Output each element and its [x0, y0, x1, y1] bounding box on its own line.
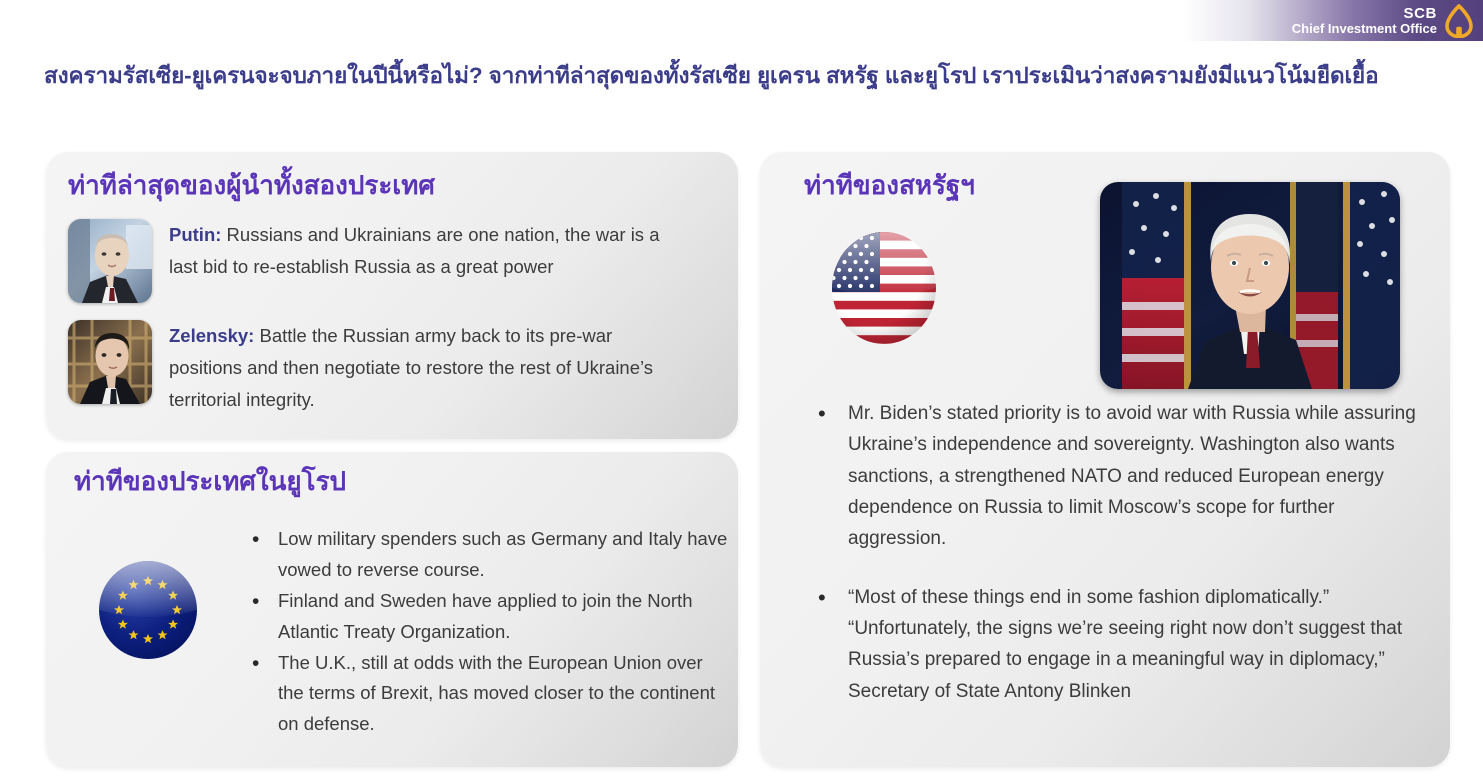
page-title: สงครามรัสเซีย-ยูเครนจะจบภายในปีนี้หรือไม…: [44, 61, 1444, 91]
card-europe-title: ท่าทีของประเทศในยูโรป: [74, 466, 346, 497]
leader-quote: Russians and Ukrainians are one nation, …: [169, 224, 659, 277]
list-item: Low military spenders such as Germany an…: [246, 524, 728, 586]
list-item: “Most of these things end in some fashio…: [790, 582, 1420, 707]
scb-leaf-logo-icon: [1443, 4, 1475, 38]
card-europe-stance: ท่าทีของประเทศในยูโรป: [46, 452, 738, 767]
europe-bullet-list: Low military spenders such as Germany an…: [246, 524, 728, 740]
card-europe-body: Low military spenders such as Germany an…: [68, 524, 728, 740]
leader-quote-text: Putin: Russians and Ukrainians are one n…: [169, 219, 679, 283]
list-item: Mr. Biden’s stated priority is to avoid …: [790, 398, 1420, 555]
leader-row: Zelensky: Battle the Russian army back t…: [68, 320, 679, 415]
leader-quote-text: Zelensky: Battle the Russian army back t…: [169, 320, 679, 415]
card-us-title: ท่าทีของสหรัฐฯ: [804, 170, 975, 201]
leader-row: Putin: Russians and Ukrainians are one n…: [68, 219, 679, 303]
slide-root: SCB Chief Investment Office สงครามรัสเซี…: [0, 0, 1483, 780]
card-us-stance: ท่าทีของสหรัฐฯ: [760, 152, 1450, 767]
leader-name: Putin:: [169, 224, 221, 245]
card-leaders-title: ท่าทีล่าสุดของผู้นำทั้งสองประเทศ: [68, 170, 435, 201]
zelensky-portrait: [68, 320, 152, 404]
brand-banner: SCB Chief Investment Office: [1183, 0, 1483, 41]
european-union-flag-icon: [96, 558, 200, 662]
putin-portrait: [68, 219, 152, 303]
list-item: The U.K., still at odds with the Europea…: [246, 648, 728, 741]
list-item: Finland and Sweden have applied to join …: [246, 586, 728, 648]
united-states-flag-icon: [822, 229, 946, 347]
leader-name: Zelensky:: [169, 325, 254, 346]
us-bullet-list: Mr. Biden’s stated priority is to avoid …: [790, 398, 1420, 734]
card-leaders-stance: ท่าทีล่าสุดของผู้นำทั้งสองประเทศ: [46, 152, 738, 439]
brand-division: Chief Investment Office: [1292, 22, 1437, 35]
brand-name: SCB: [1292, 6, 1437, 21]
biden-portrait: [1100, 182, 1400, 389]
brand-text-block: SCB Chief Investment Office: [1292, 6, 1443, 35]
